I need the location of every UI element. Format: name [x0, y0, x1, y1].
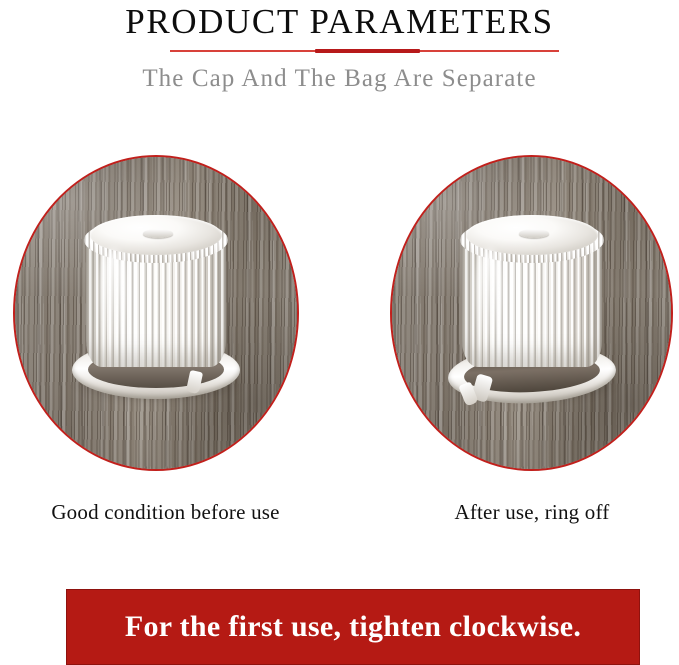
instruction-banner-text: For the first use, tighten clockwise.	[125, 610, 581, 644]
cap-specular-highlight	[100, 249, 126, 345]
page-subtitle: The Cap And The Bag Are Separate	[0, 62, 679, 96]
page-title: PRODUCT PARAMETERS	[0, 2, 679, 42]
cap-top-nub	[143, 229, 173, 238]
title-divider	[170, 49, 559, 52]
divider-accent-segment	[315, 49, 420, 53]
circular-photo-frame	[13, 155, 299, 471]
instruction-banner: For the first use, tighten clockwise.	[66, 589, 640, 665]
cap-top-nub	[519, 229, 549, 238]
circular-photo-frame	[390, 155, 673, 471]
caption-before-use: Good condition before use	[8, 498, 323, 526]
product-photo-before-use	[13, 155, 299, 471]
product-photo-row	[0, 155, 679, 475]
product-photo-after-use	[390, 155, 673, 471]
bottle-cap-illustration	[70, 209, 242, 405]
caption-after-use: After use, ring off	[392, 498, 672, 526]
cap-specular-highlight	[476, 249, 502, 345]
bottle-cap-illustration	[446, 209, 618, 405]
